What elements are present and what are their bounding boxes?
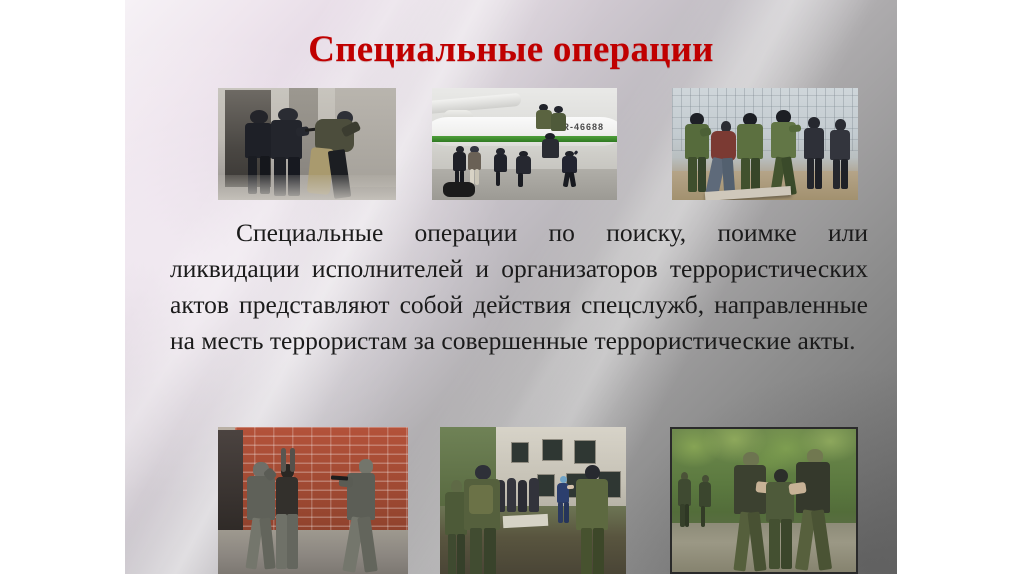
photo-urban-operation <box>440 427 626 574</box>
bystander-figure <box>507 478 516 512</box>
photo-forest-escort <box>670 427 858 574</box>
operator-figure <box>541 133 560 167</box>
operator-figure <box>769 110 799 193</box>
soldier-figure <box>678 472 693 526</box>
photo-brick-wall-detention <box>218 427 408 574</box>
detainee-figure <box>467 146 482 184</box>
bystander-figure <box>518 480 527 512</box>
photo-detention-ice <box>672 88 858 200</box>
operator-figure <box>735 113 765 194</box>
civilian-figure <box>555 476 572 523</box>
photo-detention-ice-scene <box>672 88 858 200</box>
operator-figure <box>452 146 467 184</box>
soldier-figure <box>338 459 380 571</box>
slide-body-text: Специальные операции по поиску, поимке и… <box>170 215 868 359</box>
operator-figure <box>515 151 532 187</box>
soldier-figure <box>792 449 836 569</box>
screenshot-canvas: Специальные операции <box>0 0 1024 574</box>
photo-urban-operation-scene <box>440 427 626 574</box>
detainee-figure <box>271 448 303 569</box>
bystander-figure <box>529 478 538 512</box>
operator-figure <box>562 151 579 187</box>
soldier-figure <box>462 465 503 574</box>
photo-brick-wall-detention-scene <box>218 427 408 574</box>
operator-figure <box>802 117 826 189</box>
presentation-slide: Специальные операции <box>125 0 897 574</box>
luggage-bag <box>443 182 474 197</box>
photo-forest-escort-scene <box>672 429 856 572</box>
soldier-figure <box>574 465 611 574</box>
photo-aircraft-assault: UR-46688 <box>432 88 617 200</box>
soldier-figure <box>698 475 713 526</box>
photo-breach-entry <box>218 88 396 200</box>
photo-breach-entry-scene <box>218 88 396 200</box>
photo-aircraft-assault-scene: UR-46688 <box>432 88 617 200</box>
slide-title: Специальные операции <box>125 28 897 72</box>
operator-figure <box>828 119 852 188</box>
operator-figure <box>493 148 508 185</box>
